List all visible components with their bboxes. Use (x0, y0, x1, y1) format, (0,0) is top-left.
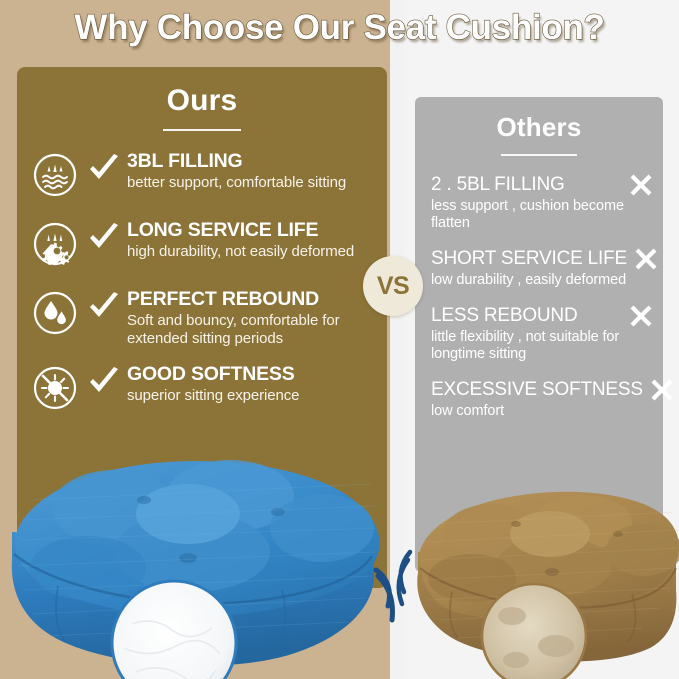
others-feature-title: EXCESSIVE SOFTNESS (431, 378, 643, 402)
brown-seat-cushion-image (404, 480, 679, 679)
check-icon (87, 223, 121, 253)
ours-feature-row: 3BL FILLING better support, comfortable … (17, 148, 387, 204)
page-title: Why Choose Our Seat Cushion? (0, 8, 679, 48)
ours-feature-row: LONG SERVICE LIFE high durability, not e… (17, 217, 387, 273)
ours-feature-text: GOOD SOFTNESS superior sitting experienc… (127, 361, 375, 405)
ours-feature-text: PERFECT REBOUND Soft and bouncy, comfort… (127, 286, 375, 348)
others-feature-head: LESS REBOUND (431, 303, 654, 329)
check-icon (87, 367, 121, 397)
others-feature-row: 2 . 5BL FILLING less support , cushion b… (431, 172, 654, 232)
ours-feature-row: GOOD SOFTNESS superior sitting experienc… (17, 361, 387, 417)
comparison-infographic: Why Choose Our Seat Cushion? Ours (0, 0, 679, 679)
cross-icon (628, 172, 654, 198)
others-feature-row: EXCESSIVE SOFTNESS low comfort (431, 377, 654, 420)
ours-feature-subtitle: high durability, not easily deformed (127, 243, 375, 261)
ours-feature-text: LONG SERVICE LIFE high durability, not e… (127, 217, 375, 261)
check-icon (87, 154, 121, 184)
others-heading: Others (415, 97, 663, 143)
ours-feature-row: PERFECT REBOUND Soft and bouncy, comfort… (17, 286, 387, 348)
others-feature-subtitle: little flexibility , not suitable for lo… (431, 329, 654, 363)
others-feature-list: 2 . 5BL FILLING less support , cushion b… (415, 172, 663, 420)
others-feature-subtitle: low durability , easily deformed (431, 272, 654, 289)
others-feature-subtitle: low comfort (431, 403, 654, 420)
others-heading-divider (501, 154, 577, 156)
others-feature-subtitle: less support , cushion become flatten (431, 198, 654, 232)
others-feature-title: SHORT SERVICE LIFE (431, 247, 627, 271)
ours-feature-subtitle: Soft and bouncy, comfortable for extende… (127, 312, 375, 348)
others-feature-row: LESS REBOUND little flexibility , not su… (431, 303, 654, 363)
vs-badge: VS (363, 256, 423, 316)
ours-feature-subtitle: better support, comfortable sitting (127, 174, 375, 192)
others-feature-head: SHORT SERVICE LIFE (431, 246, 654, 272)
cross-icon (628, 303, 654, 329)
waves-arrows-icon (33, 153, 77, 197)
others-feature-title: 2 . 5BL FILLING (431, 173, 565, 197)
cross-icon (633, 246, 659, 272)
ours-heading: Ours (17, 67, 387, 118)
others-feature-title: LESS REBOUND (431, 304, 577, 328)
blue-seat-cushion-image (0, 440, 404, 679)
ours-feature-title: 3BL FILLING (127, 150, 243, 172)
others-feature-row: SHORT SERVICE LIFE low durability , easi… (431, 246, 654, 289)
water-drops-icon (33, 291, 77, 335)
ours-feature-title: GOOD SOFTNESS (127, 363, 295, 385)
cross-icon (649, 377, 675, 403)
ours-feature-title: PERFECT REBOUND (127, 288, 319, 310)
others-feature-head: EXCESSIVE SOFTNESS (431, 377, 654, 403)
no-sun-icon (33, 366, 77, 410)
ours-feature-title: LONG SERVICE LIFE (127, 219, 318, 241)
others-feature-head: 2 . 5BL FILLING (431, 172, 654, 198)
gears-arrows-icon (33, 222, 77, 266)
check-icon (87, 292, 121, 322)
ours-feature-text: 3BL FILLING better support, comfortable … (127, 148, 375, 192)
ours-feature-subtitle: superior sitting experience (127, 387, 375, 405)
ours-feature-list: 3BL FILLING better support, comfortable … (17, 148, 387, 417)
ours-heading-divider (163, 129, 241, 131)
